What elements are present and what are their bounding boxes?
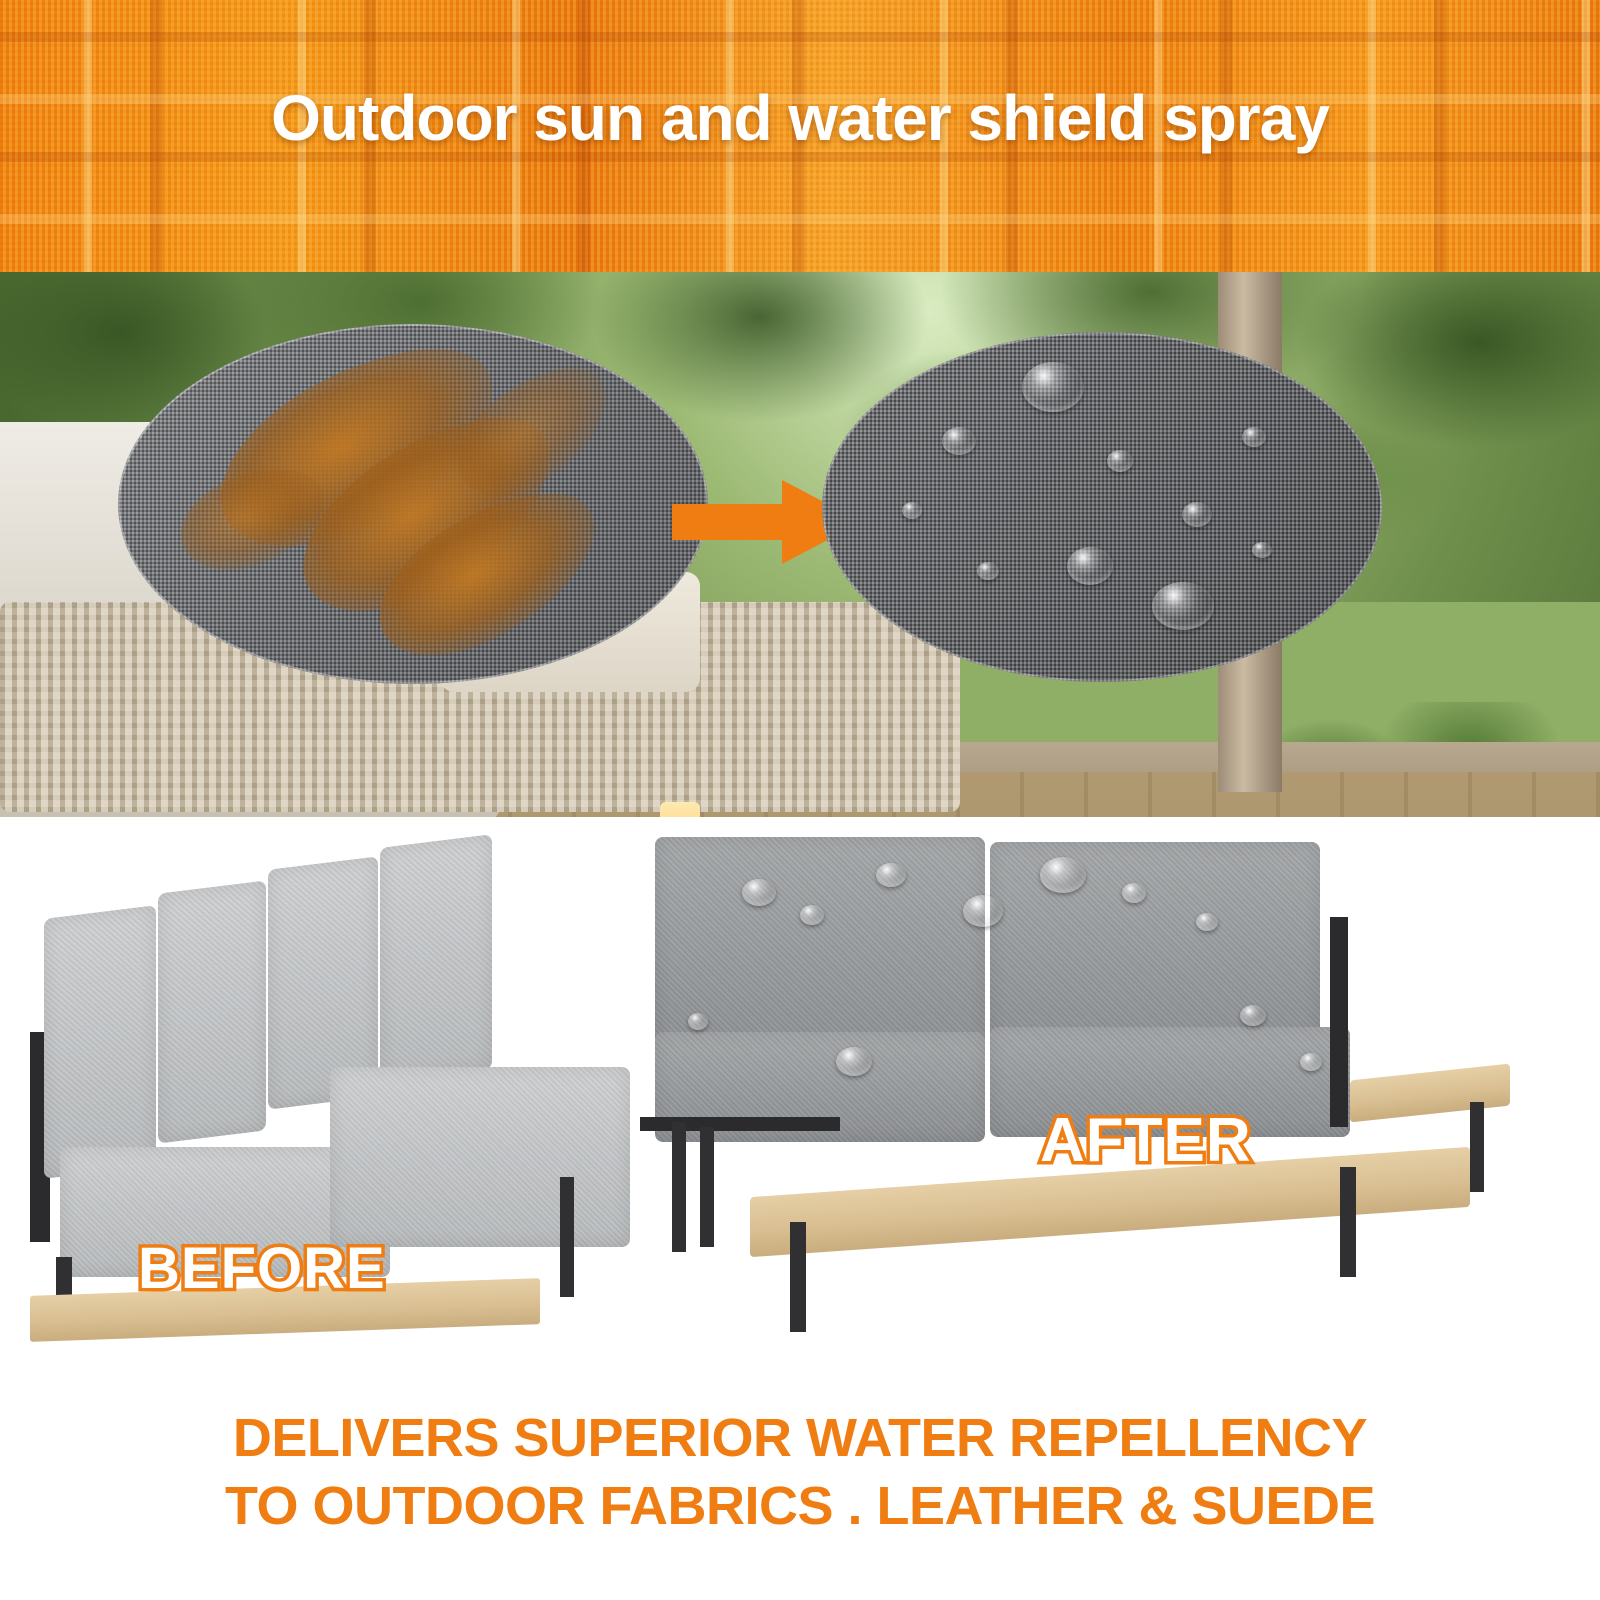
before-fabric-swatch [118, 324, 708, 684]
water-droplet [1152, 582, 1214, 630]
product-poster: Outdoor sun and water shield spray [0, 0, 1600, 1600]
sofa-leg-4 [700, 1127, 714, 1247]
water-droplet [800, 905, 824, 925]
table-leg-2 [1340, 1167, 1356, 1277]
after-fabric-swatch [822, 332, 1382, 682]
footer-line-1: DELIVERS SUPERIOR WATER REPELLENCY [0, 1404, 1600, 1472]
water-droplet [1300, 1053, 1322, 1071]
sofa-frame-right [1330, 917, 1348, 1127]
water-droplet [942, 427, 976, 455]
label-after: AFTER [1040, 1105, 1252, 1176]
water-droplet [1182, 502, 1212, 527]
water-droplet [688, 1013, 708, 1030]
sofa-corner-back-cushion [380, 834, 492, 1083]
water-droplet [1252, 542, 1272, 558]
water-droplet [836, 1047, 872, 1076]
table-leg-3 [1470, 1102, 1484, 1192]
sofa-leg-2 [672, 1122, 686, 1252]
sofa-back-cushion-wet-1 [655, 837, 985, 1062]
sofa-back-cushion-1 [44, 905, 156, 1179]
water-droplet [1122, 883, 1146, 903]
patio-scene-photo [0, 272, 1600, 817]
water-droplet [1067, 547, 1113, 585]
sofa-rail [640, 1117, 840, 1131]
water-droplet [742, 879, 776, 906]
table-leg-1 [790, 1222, 806, 1332]
footer-line-2: TO OUTDOOR FABRICS . LEATHER & SUEDE [0, 1472, 1600, 1540]
water-droplet [963, 895, 1003, 927]
water-droplet [1240, 1005, 1266, 1026]
water-droplet [977, 562, 999, 580]
footer-tagline: DELIVERS SUPERIOR WATER REPELLENCY TO OU… [0, 1380, 1600, 1600]
page-title: Outdoor sun and water shield spray [0, 86, 1600, 150]
sofa-back-cushion-2 [158, 880, 266, 1143]
juice-glass-1 [660, 802, 700, 817]
water-droplet [1242, 427, 1266, 447]
water-droplet [876, 863, 906, 887]
water-droplet [1022, 362, 1084, 412]
water-droplet [902, 502, 922, 519]
water-droplet [1196, 913, 1218, 931]
header-banner: Outdoor sun and water shield spray [0, 0, 1600, 272]
sofa-seat-cushion-corner [330, 1067, 630, 1247]
water-droplet [1040, 857, 1086, 893]
sofa-leg-3 [560, 1177, 574, 1297]
water-droplet [1107, 450, 1133, 472]
wood-table-extension [1350, 1064, 1510, 1123]
label-before: BEFORE [138, 1235, 386, 1302]
